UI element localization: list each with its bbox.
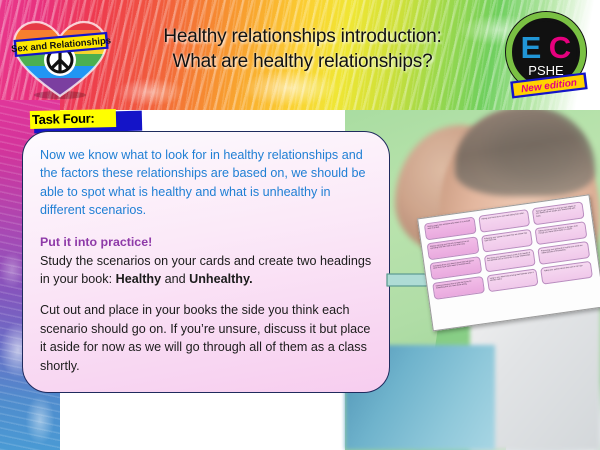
instruction-text-mid: and (161, 272, 189, 286)
scenario-cards-sheet: Getting angry with someone else when it … (417, 195, 600, 330)
instruction-bold-unhealthy: Unhealthy. (189, 272, 252, 286)
instruction-paragraph: Study the scenarios on your cards and cr… (40, 252, 373, 289)
intro-paragraph: Now we know what to look for in healthy … (40, 146, 373, 220)
scenario-card: Telling your partner where they can or c… (540, 261, 593, 285)
instruction-bold-healthy: Healthy (116, 272, 162, 286)
task-badge-label: Task Four: (32, 109, 128, 129)
page-title-line-2: What are healthy relationships? (115, 49, 490, 74)
scenario-card: Lying to your friend about being their f… (486, 268, 539, 292)
page-title-line-1: Healthy relationships introduction: (115, 24, 490, 49)
ec-letter-c: C (549, 30, 571, 65)
slide-canvas: Sex and Relationships E C PSHE New editi… (0, 0, 600, 450)
instruction-panel: Now we know what to look for in healthy … (22, 131, 390, 393)
ec-letter-e: E (521, 30, 542, 65)
ec-pshe-logo: E C PSHE New edition (500, 8, 596, 100)
page-title: Healthy relationships introduction: What… (115, 24, 490, 74)
closing-paragraph: Cut out and place in your books the side… (40, 301, 373, 375)
scenario-card: Getting someone else to take the blame f… (432, 276, 485, 300)
sex-and-relationships-logo: Sex and Relationships (8, 16, 113, 100)
task-badge: Task Four: (30, 110, 142, 132)
put-it-into-practice-heading: Put it into practice! (40, 234, 373, 251)
